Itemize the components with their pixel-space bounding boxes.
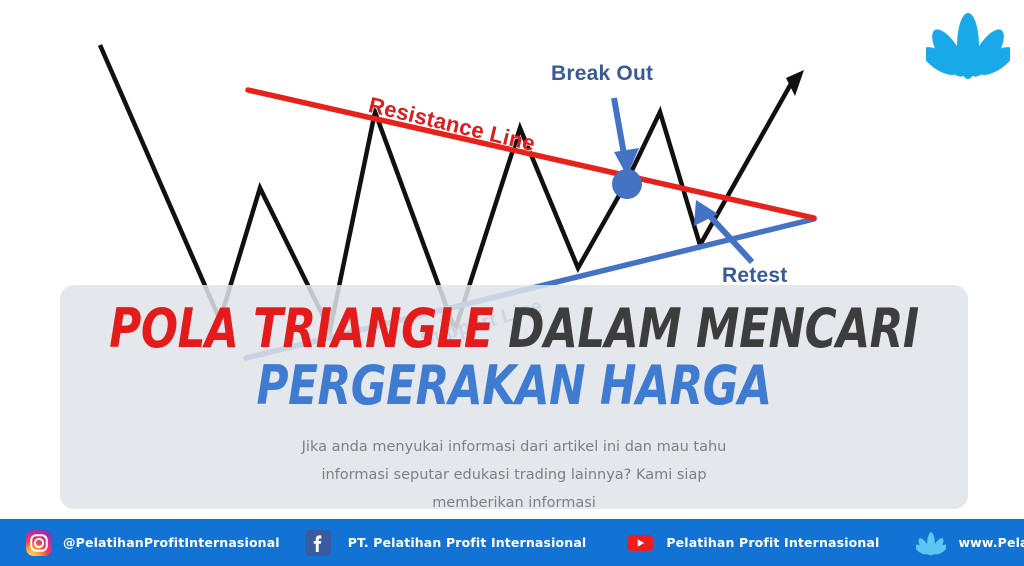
headline-line-1: POLA TRIANGLE DALAM MENCARI xyxy=(105,303,922,356)
facebook-icon xyxy=(305,530,331,556)
footer-link-instagram[interactable]: @PelatihanProfitInternasional xyxy=(26,519,280,566)
footer-label-instagram: @PelatihanProfitInternasional xyxy=(63,535,280,550)
footer-link-youtube[interactable]: Pelatihan Profit Internasional xyxy=(627,519,879,566)
instagram-icon xyxy=(26,530,52,556)
panel-body-text: Jika anda menyukai informasi dari artike… xyxy=(60,433,968,518)
footer-link-website[interactable]: www.PelatihanProfitInternasional.com xyxy=(916,519,1024,566)
breakout-label: Break Out xyxy=(551,62,653,86)
website-lotus-icon xyxy=(916,530,946,556)
headline-accent-text: POLA TRIANGLE xyxy=(109,297,493,360)
youtube-icon xyxy=(627,530,653,556)
poster-canvas: Resistance Line Support Line Break Out R… xyxy=(0,0,1024,566)
social-footer-bar: @PelatihanProfitInternasional PT. Pelati… xyxy=(0,519,1024,566)
headline-rest-text: DALAM MENCARI xyxy=(493,297,918,360)
footer-link-facebook[interactable]: PT. Pelatihan Profit Internasional xyxy=(305,519,587,566)
body-line-1: Jika anda menyukai informasi dari artike… xyxy=(60,433,968,461)
headline-panel: POLA TRIANGLE DALAM MENCARI PERGERAKAN H… xyxy=(60,285,968,509)
footer-label-website: www.PelatihanProfitInternasional.com xyxy=(958,535,1024,550)
footer-label-youtube: Pelatihan Profit Internasional xyxy=(666,535,879,550)
retest-arrow xyxy=(694,200,752,262)
lotus-leaf-logo-icon xyxy=(926,4,1010,82)
body-line-3: memberikan informasi xyxy=(60,489,968,517)
body-line-2: informasi seputar edukasi trading lainny… xyxy=(60,461,968,489)
footer-label-facebook: PT. Pelatihan Profit Internasional xyxy=(348,535,587,550)
headline-block: POLA TRIANGLE DALAM MENCARI PERGERAKAN H… xyxy=(60,303,968,413)
headline-line-2: PERGERAKAN HARGA xyxy=(105,360,922,413)
